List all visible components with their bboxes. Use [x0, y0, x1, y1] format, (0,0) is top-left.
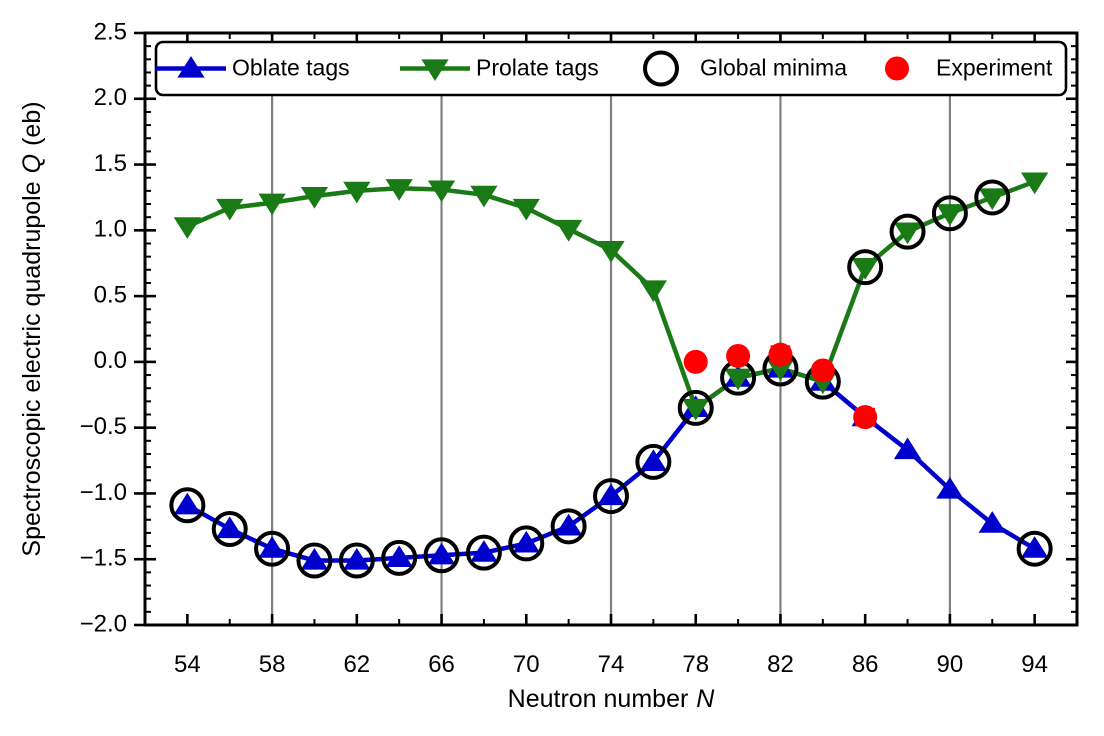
- x-tick-label: 70: [513, 651, 540, 678]
- y-tick-label: −1.5: [80, 545, 127, 572]
- legend-label: Experiment: [936, 55, 1053, 81]
- marker-prolate: [640, 280, 667, 302]
- marker-oblate: [258, 536, 285, 558]
- x-tick-label: 78: [682, 651, 709, 678]
- marker-oblate: [1021, 536, 1048, 558]
- x-tick-label: 58: [259, 651, 286, 678]
- legend-marker-circle-filled: [885, 57, 909, 81]
- marker-prolate: [513, 199, 540, 221]
- x-axis-label: Neutron numberN: [508, 685, 716, 713]
- y-tick-label: 2.0: [94, 84, 127, 111]
- y-tick-label: 0.5: [94, 281, 127, 308]
- x-tick-label: 86: [852, 651, 879, 678]
- tick-labels: 5458626670747882869094−2.0−1.5−1.0−0.50.…: [80, 18, 1048, 677]
- marker-prolate: [555, 220, 582, 242]
- gridlines: [272, 33, 950, 625]
- y-tick-label: 1.5: [94, 150, 127, 177]
- marker-prolate: [852, 258, 879, 280]
- experiment-point: [684, 350, 708, 374]
- y-tick-label: −0.5: [80, 413, 127, 440]
- y-tick-label: 2.5: [94, 18, 127, 45]
- figure-container: 5458626670747882869094−2.0−1.5−1.0−0.50.…: [0, 0, 1104, 736]
- x-tick-label: 54: [174, 651, 201, 678]
- quadrupole-moment-chart: 5458626670747882869094−2.0−1.5−1.0−0.50.…: [0, 0, 1104, 736]
- y-tick-label: 1.0: [94, 216, 127, 243]
- y-tick-label: 0.0: [94, 347, 127, 374]
- x-tick-label: 62: [343, 651, 370, 678]
- x-tick-label: 74: [598, 651, 625, 678]
- legend-label: Global minima: [700, 55, 847, 81]
- experiment-point: [853, 405, 877, 429]
- experiment-point: [726, 344, 750, 368]
- x-tick-label: 82: [767, 651, 794, 678]
- marker-oblate: [216, 516, 243, 538]
- marker-oblate: [174, 493, 201, 515]
- y-axis-label: Spectroscopic electric quadrupoleQ(eb): [18, 101, 46, 556]
- legend: Oblate tagsProlate tagsGlobal minimaExpe…: [156, 42, 1066, 95]
- y-tick-label: −2.0: [80, 610, 127, 637]
- x-tick-label: 90: [937, 651, 964, 678]
- x-tick-label: 94: [1021, 651, 1048, 678]
- experiment-point: [811, 358, 835, 382]
- x-tick-label: 66: [428, 651, 455, 678]
- legend-label: Oblate tags: [232, 55, 350, 81]
- y-tick-label: −1.0: [80, 479, 127, 506]
- legend-label: Prolate tags: [476, 55, 599, 81]
- experiment-point: [768, 343, 792, 367]
- marker-prolate: [174, 217, 201, 239]
- axis-ticks: [134, 33, 1077, 625]
